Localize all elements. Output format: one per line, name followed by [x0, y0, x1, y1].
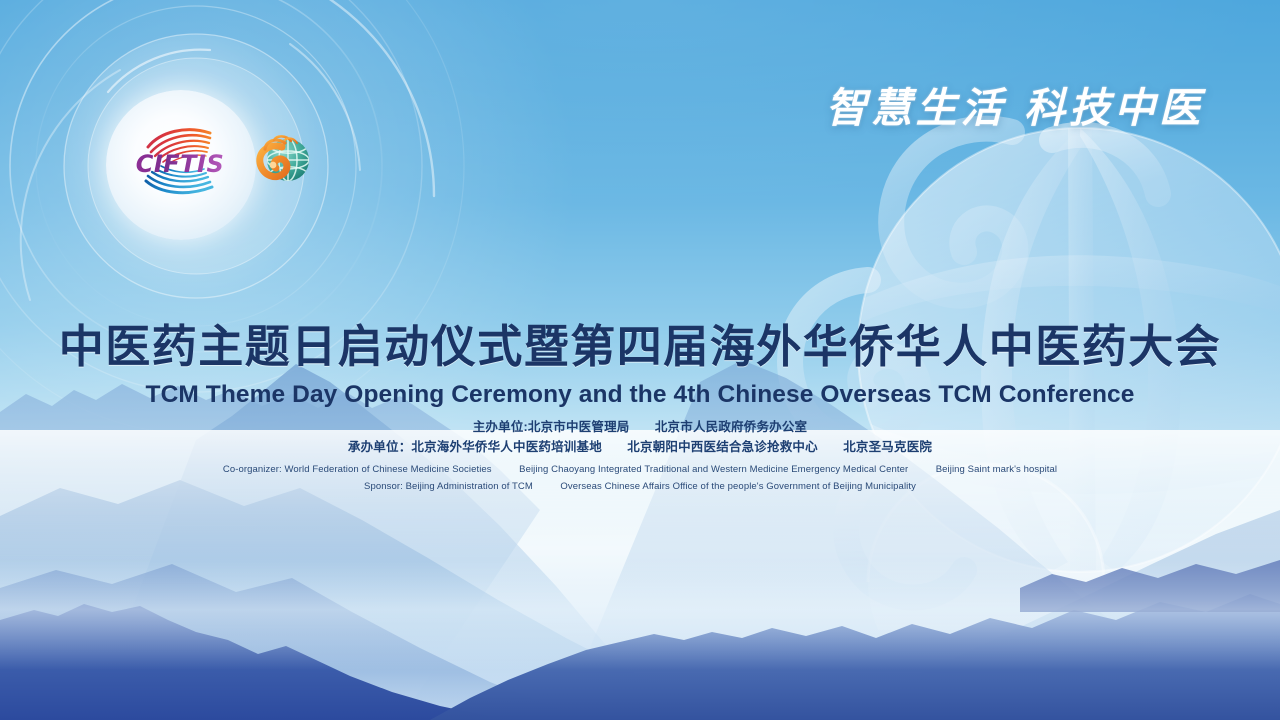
ciftis-logo: CIFTIS: [124, 119, 236, 201]
sponsor-line-en: Sponsor: Beijing Administration of TCM O…: [0, 478, 1280, 495]
organizer-english-block: Co-organizer: World Federation of Chines…: [0, 461, 1280, 495]
coorganizer-org-2: Beijing Chaoyang Integrated Traditional …: [519, 464, 908, 475]
organizer-org-3: 北京圣马克医院: [843, 440, 932, 454]
title-block: 中医药主题日启动仪式暨第四届海外华侨华人中医药大会 TCM Theme Day …: [0, 320, 1280, 409]
host-label: 主办单位:北京市中医管理局: [473, 420, 630, 434]
slogan-text: 智慧生活 科技中医: [826, 74, 1204, 134]
ciftis-logo-lockup[interactable]: CIFTIS: [112, 104, 312, 216]
tcm-globe-emblem: [252, 129, 314, 191]
sponsor-org-2: Overseas Chinese Affairs Office of the p…: [560, 481, 916, 492]
mountain-haze-lower: [0, 560, 1280, 670]
organizer-block: 主办单位:北京市中医管理局 北京市人民政府侨务办公室 承办单位：北京海外华侨华人…: [0, 418, 1280, 495]
concentric-ring-halo: [0, 0, 620, 620]
page-title-en: TCM Theme Day Opening Ceremony and the 4…: [0, 381, 1280, 409]
organizer-org-2: 北京朝阳中西医结合急诊抢救中心: [627, 440, 818, 454]
host-org-2: 北京市人民政府侨务办公室: [655, 420, 807, 434]
poster-backdrop: CIFTIS: [0, 0, 1280, 720]
coorganizer-org-3: Beijing Saint mark's hospital: [936, 464, 1057, 475]
organizer-line-cn: 承办单位：北京海外华侨华人中医药培训基地 北京朝阳中西医结合急诊抢救中心 北京圣…: [0, 437, 1280, 458]
svg-text:CIFTIS: CIFTIS: [136, 150, 225, 178]
coorganizer-line-en: Co-organizer: World Federation of Chines…: [0, 461, 1280, 478]
coorganizer-label: Co-organizer: World Federation of Chines…: [223, 464, 492, 475]
host-line-cn: 主办单位:北京市中医管理局 北京市人民政府侨务办公室: [0, 418, 1280, 437]
page-title-cn: 中医药主题日启动仪式暨第四届海外华侨华人中医药大会: [0, 320, 1280, 375]
sponsor-label: Sponsor: Beijing Administration of TCM: [364, 481, 533, 492]
organizer-label: 承办单位：北京海外华侨华人中医药培训基地: [348, 440, 602, 454]
